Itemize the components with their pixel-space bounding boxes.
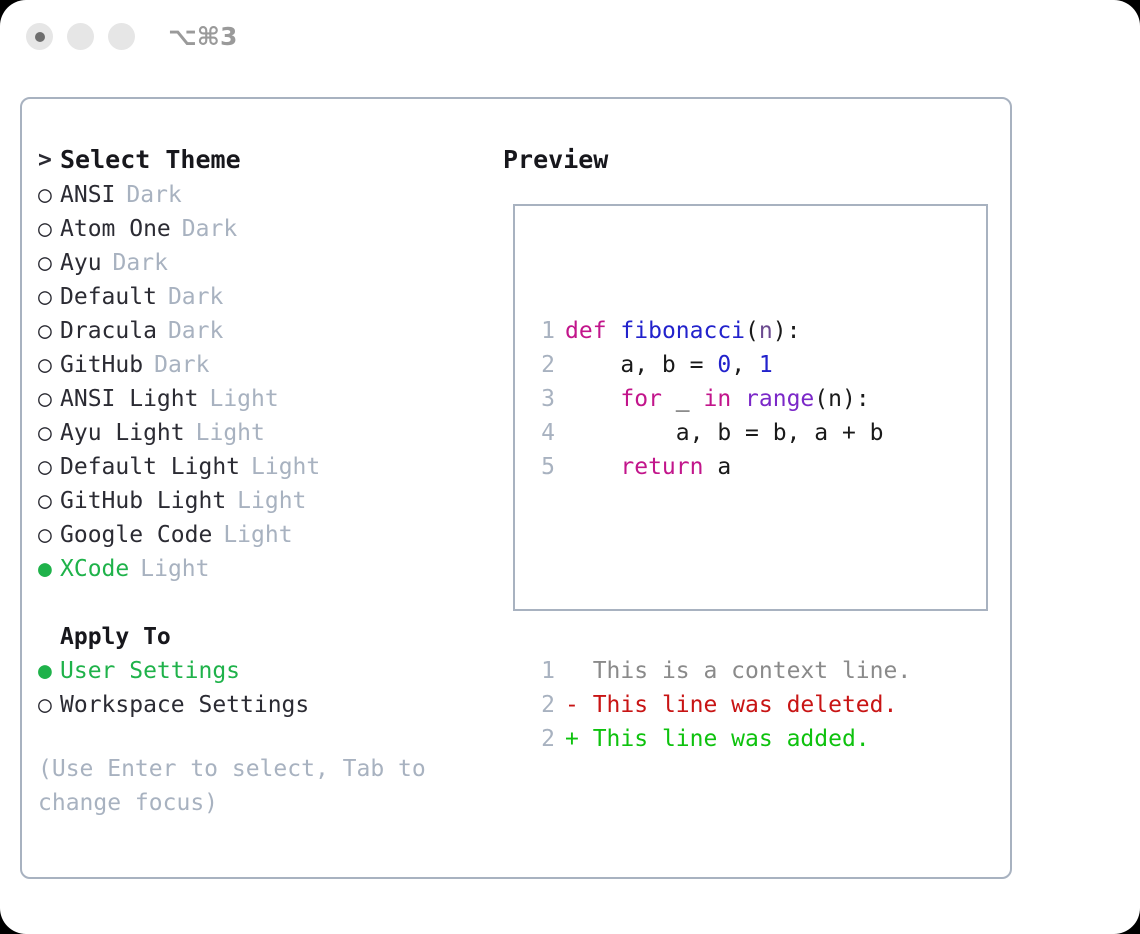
- code-token-plain: [565, 382, 620, 416]
- window-dot-third[interactable]: [108, 23, 135, 50]
- main-panel: > Select Theme ○ANSIDark○Atom OneDark○Ay…: [20, 97, 1012, 879]
- diff-sign: -: [565, 688, 579, 722]
- theme-variant-tag: Dark: [157, 280, 223, 314]
- theme-option-label: ANSI: [60, 178, 115, 212]
- theme-option-label: ANSI Light: [60, 382, 198, 416]
- radio-unselected-icon: ○: [38, 314, 60, 348]
- theme-option-label: Dracula: [60, 314, 157, 348]
- radio-unselected-icon: ○: [38, 280, 60, 314]
- theme-option-ansi-light[interactable]: ○ANSI LightLight: [38, 382, 488, 416]
- keyboard-shortcut-label: ⌥⌘3: [168, 22, 237, 51]
- theme-variant-tag: Light: [198, 382, 278, 416]
- theme-option-label: GitHub: [60, 348, 143, 382]
- code-token-var: ,: [731, 348, 759, 382]
- theme-variant-tag: Light: [212, 518, 292, 552]
- code-line: 5 return a: [529, 450, 911, 484]
- window-dot-second[interactable]: [67, 23, 94, 50]
- diff-line-del: 2- This line was deleted.: [529, 688, 911, 722]
- code-line-number: 1: [529, 314, 565, 348]
- theme-variant-tag: Dark: [157, 314, 223, 348]
- code-diff-gap: [529, 552, 911, 586]
- radio-unselected-icon: ○: [38, 416, 60, 450]
- radio-unselected-icon: ○: [38, 518, 60, 552]
- theme-option-label: Default: [60, 280, 157, 314]
- diff-sign: [565, 654, 579, 688]
- code-token-punc: (: [745, 314, 759, 348]
- apply-to-list: ●User Settings○Workspace Settings: [38, 654, 488, 722]
- apply-to-option-label: User Settings: [60, 654, 240, 688]
- theme-variant-tag: Dark: [143, 348, 209, 382]
- preview-box: 1def fibonacci(n):2 a, b = 0, 13 for _ i…: [513, 204, 988, 611]
- theme-selector-column: > Select Theme ○ANSIDark○Atom OneDark○Ay…: [38, 142, 488, 820]
- title-bar: ⌥⌘3: [0, 0, 1140, 78]
- code-sample: 1def fibonacci(n):2 a, b = 0, 13 for _ i…: [529, 314, 911, 484]
- window-controls: [26, 23, 135, 50]
- apply-to-heading: ○Apply To: [38, 620, 488, 654]
- code-line: 4 a, b = b, a + b: [529, 416, 911, 450]
- theme-option-ayu-light[interactable]: ○Ayu LightLight: [38, 416, 488, 450]
- radio-unselected-icon: ○: [38, 246, 60, 280]
- diff-sign: +: [565, 722, 579, 756]
- terminal-window: ⌥⌘3 > Select Theme ○ANSIDark○Atom OneDar…: [0, 0, 1140, 934]
- code-line: 2 a, b = 0, 1: [529, 348, 911, 382]
- code-token-plain: [565, 450, 620, 484]
- theme-option-label: Atom One: [60, 212, 171, 246]
- list-spacer: [38, 586, 488, 620]
- radio-unselected-icon: ○: [38, 484, 60, 518]
- radio-unselected-icon: ○: [38, 178, 60, 212]
- diff-line-number: 2: [529, 688, 565, 722]
- theme-option-github[interactable]: ○GitHubDark: [38, 348, 488, 382]
- code-line: 1def fibonacci(n):: [529, 314, 911, 348]
- code-token-var: _: [662, 382, 704, 416]
- code-line-number: 3: [529, 382, 565, 416]
- theme-variant-tag: Light: [240, 450, 320, 484]
- code-line-number: 5: [529, 450, 565, 484]
- theme-option-github-light[interactable]: ○GitHub LightLight: [38, 484, 488, 518]
- diff-text: This is a context line.: [579, 654, 911, 688]
- diff-line-number: 1: [529, 654, 565, 688]
- code-token-call: range: [745, 382, 814, 416]
- code-token-punc: (n):: [814, 382, 869, 416]
- apply-to-option-label: Workspace Settings: [60, 688, 309, 722]
- theme-option-label: XCode: [60, 552, 129, 586]
- code-token-plain: [607, 314, 621, 348]
- diff-text: This line was added.: [579, 722, 870, 756]
- theme-variant-tag: Light: [185, 416, 265, 450]
- apply-to-marker-spacer: ○: [38, 620, 60, 654]
- code-token-num: 0: [717, 348, 731, 382]
- code-token-var: a, b =: [565, 348, 717, 382]
- theme-option-ansi[interactable]: ○ANSIDark: [38, 178, 488, 212]
- window-dot-active-inner: [35, 32, 45, 42]
- theme-variant-tag: Dark: [102, 246, 168, 280]
- radio-unselected-icon: ○: [38, 348, 60, 382]
- theme-list: ○ANSIDark○Atom OneDark○AyuDark○DefaultDa…: [38, 178, 488, 586]
- preview-column: Preview 1def fibonacci(n):2 a, b = 0, 13…: [503, 142, 993, 611]
- code-token-plain: [731, 382, 745, 416]
- prompt-caret-icon: >: [38, 142, 60, 178]
- theme-option-dracula[interactable]: ○DraculaDark: [38, 314, 488, 348]
- radio-selected-icon: ●: [38, 552, 60, 586]
- select-theme-heading: > Select Theme: [38, 142, 488, 178]
- theme-variant-tag: Dark: [171, 212, 237, 246]
- theme-option-default-light[interactable]: ○Default LightLight: [38, 450, 488, 484]
- preview-title: Preview: [503, 142, 993, 178]
- code-token-param: n: [759, 314, 773, 348]
- theme-option-label: Default Light: [60, 450, 240, 484]
- diff-text: This line was deleted.: [579, 688, 898, 722]
- theme-option-google-code[interactable]: ○Google CodeLight: [38, 518, 488, 552]
- code-token-num: 1: [759, 348, 773, 382]
- code-token-kw: in: [703, 382, 731, 416]
- code-token-kw: for: [620, 382, 662, 416]
- code-token-kw: def: [565, 314, 607, 348]
- theme-variant-tag: Dark: [115, 178, 181, 212]
- code-token-var: a, b = b, a + b: [565, 416, 884, 450]
- theme-option-label: Ayu Light: [60, 416, 185, 450]
- apply-to-label: Apply To: [60, 620, 171, 654]
- theme-option-default[interactable]: ○DefaultDark: [38, 280, 488, 314]
- diff-line-number: 2: [529, 722, 565, 756]
- radio-selected-icon: ●: [38, 654, 60, 688]
- keyboard-hint: (Use Enter to select, Tab to change focu…: [38, 752, 448, 820]
- apply-to-option-user-settings[interactable]: ●User Settings: [38, 654, 488, 688]
- diff-line-add: 2+ This line was added.: [529, 722, 911, 756]
- code-line: 3 for _ in range(n):: [529, 382, 911, 416]
- select-theme-heading-label: Select Theme: [60, 142, 241, 178]
- theme-variant-tag: Light: [129, 552, 209, 586]
- apply-to-option-workspace-settings[interactable]: ○Workspace Settings: [38, 688, 488, 722]
- preview-code: 1def fibonacci(n):2 a, b = 0, 13 for _ i…: [529, 246, 911, 824]
- panel-columns: > Select Theme ○ANSIDark○Atom OneDark○Ay…: [22, 99, 1010, 877]
- theme-option-label: GitHub Light: [60, 484, 226, 518]
- theme-option-label: Google Code: [60, 518, 212, 552]
- theme-option-atom-one[interactable]: ○Atom OneDark: [38, 212, 488, 246]
- code-line-number: 2: [529, 348, 565, 382]
- diff-line-ctx: 1 This is a context line.: [529, 654, 911, 688]
- theme-option-xcode[interactable]: ●XCodeLight: [38, 552, 488, 586]
- code-line-number: 4: [529, 416, 565, 450]
- code-token-punc: ):: [773, 314, 801, 348]
- radio-unselected-icon: ○: [38, 382, 60, 416]
- code-token-kw: return: [620, 450, 703, 484]
- code-token-fn: fibonacci: [620, 314, 745, 348]
- theme-option-ayu[interactable]: ○AyuDark: [38, 246, 488, 280]
- radio-unselected-icon: ○: [38, 450, 60, 484]
- window-dot-active[interactable]: [26, 23, 53, 50]
- radio-unselected-icon: ○: [38, 212, 60, 246]
- code-token-var: a: [703, 450, 731, 484]
- diff-sample: 1 This is a context line.2- This line wa…: [529, 654, 911, 756]
- radio-unselected-icon: ○: [38, 688, 60, 722]
- theme-option-label: Ayu: [60, 246, 102, 280]
- theme-variant-tag: Light: [226, 484, 306, 518]
